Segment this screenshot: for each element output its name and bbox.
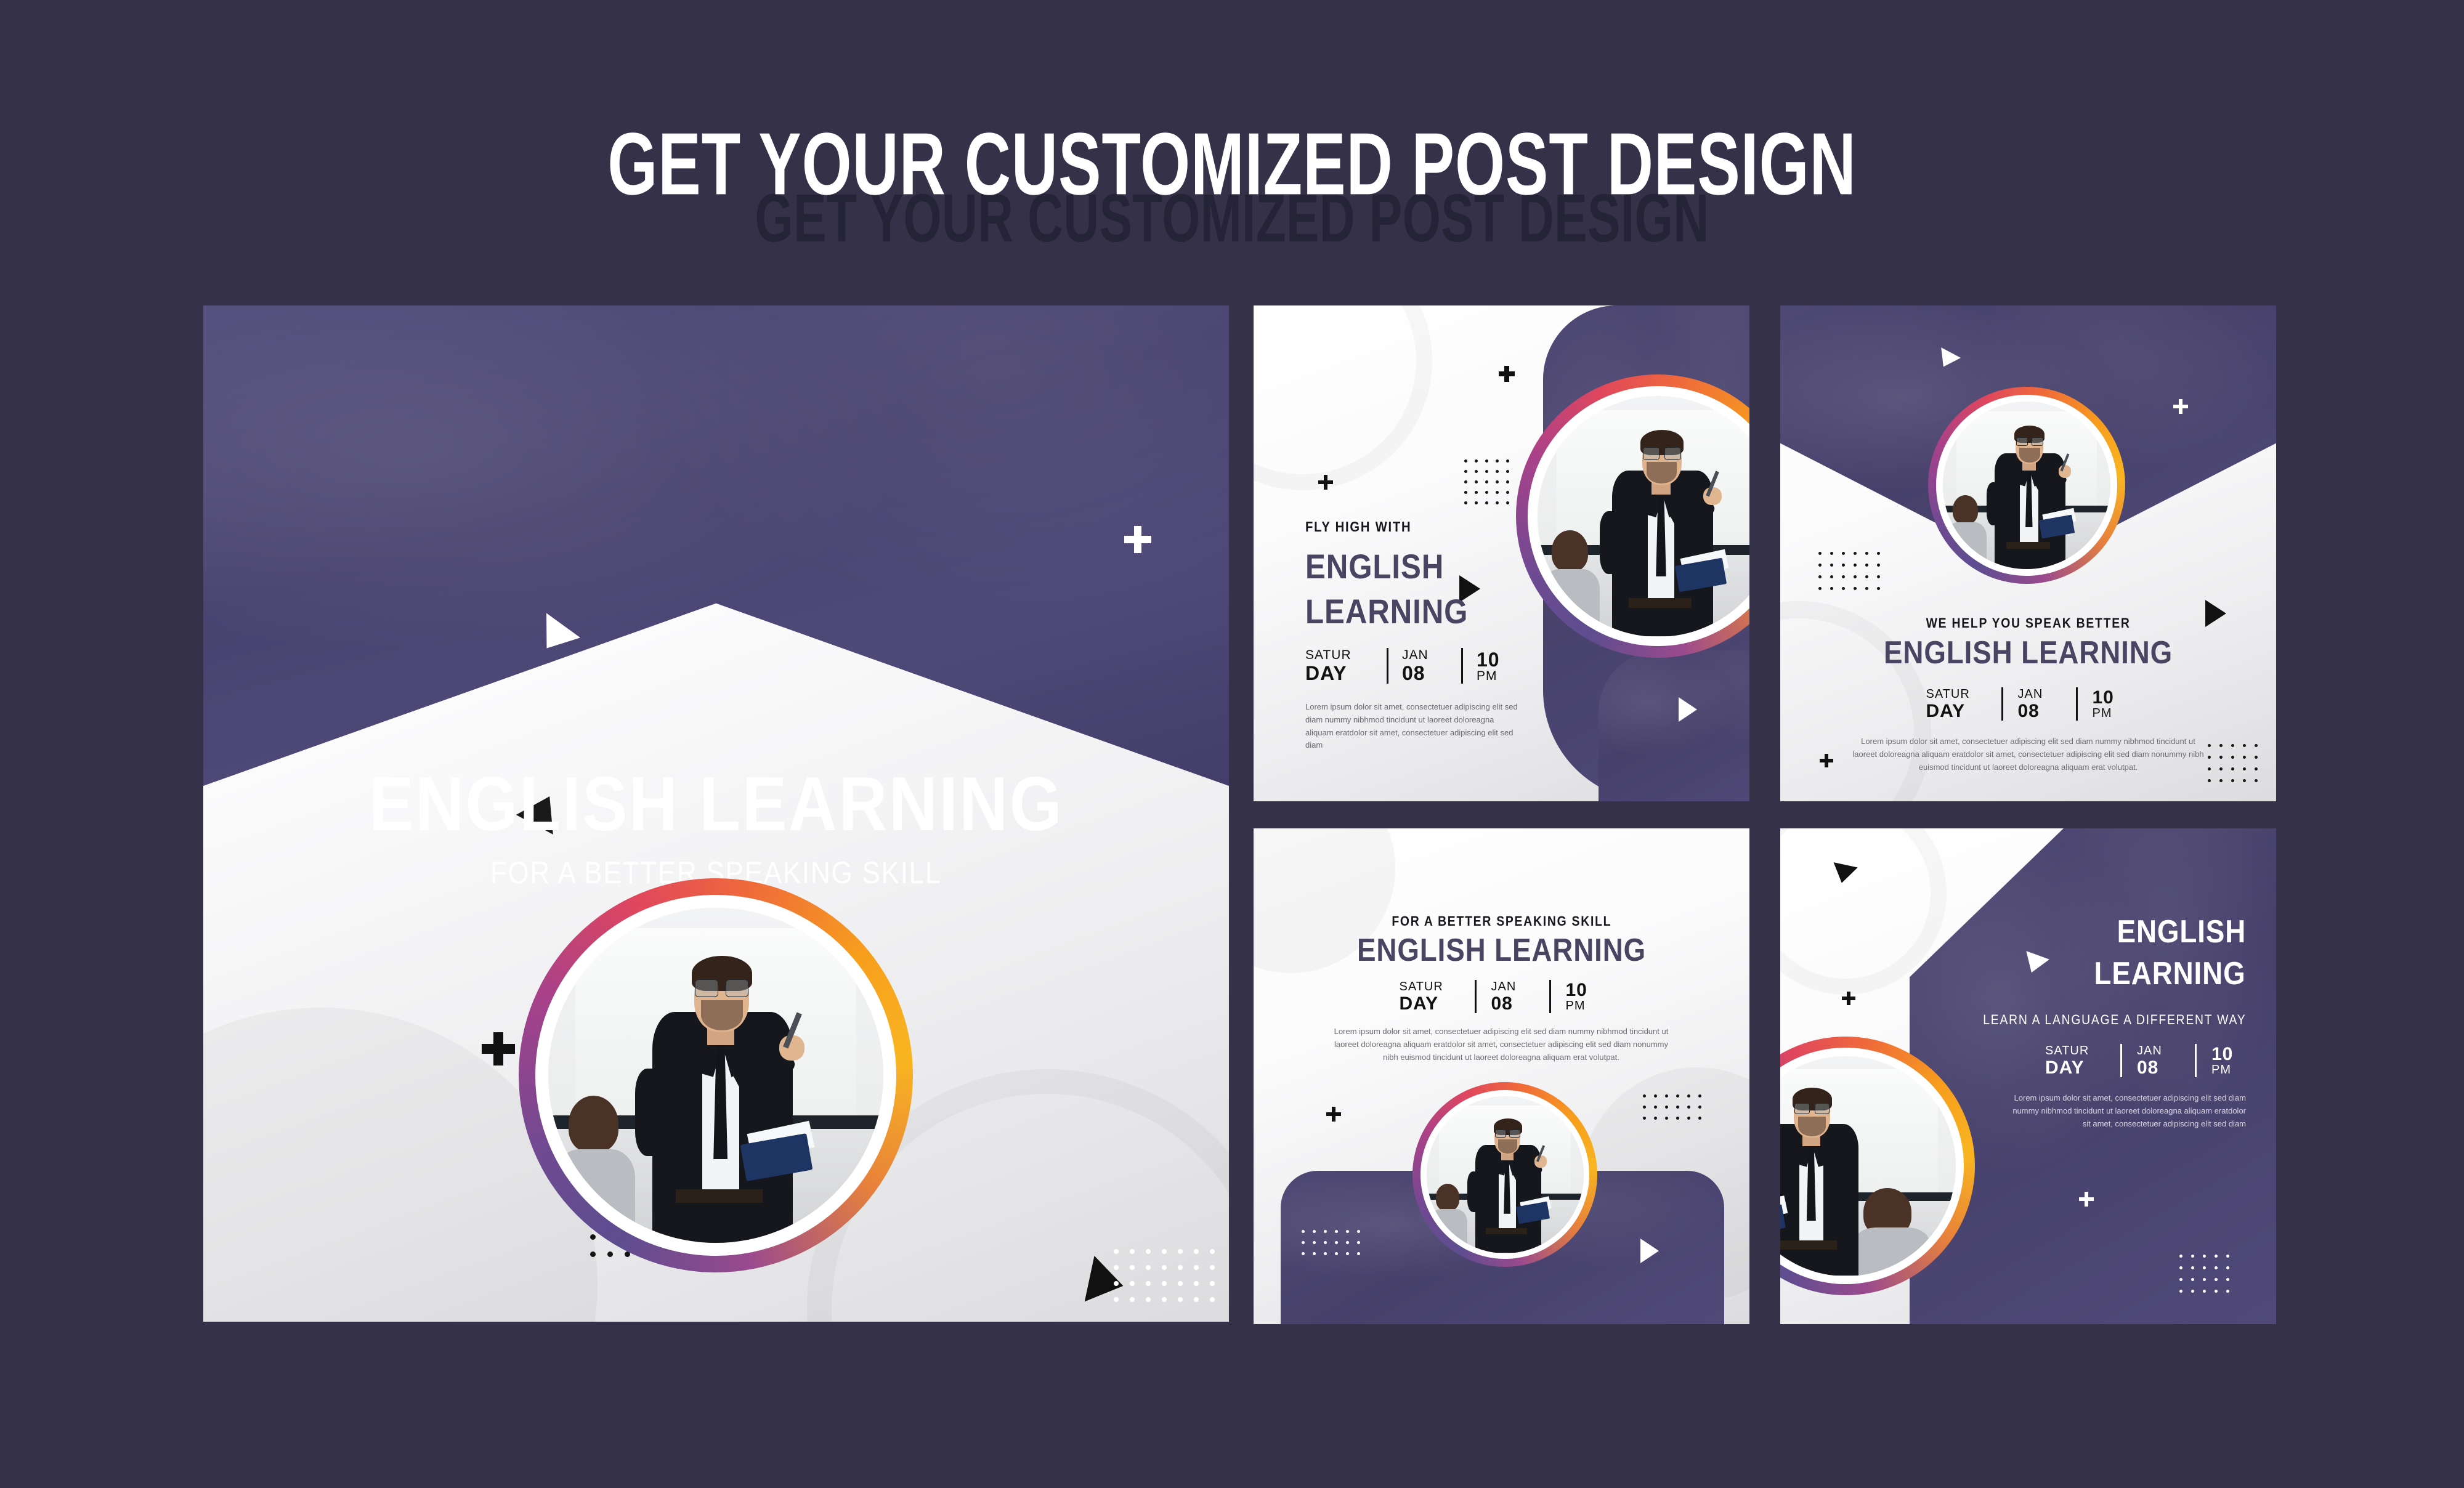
dot-grid-bottom-right bbox=[2179, 1255, 2238, 1301]
date-month-top: JAN bbox=[1402, 649, 1429, 661]
date-day-top: SATUR bbox=[1305, 649, 1352, 661]
plus-icon-left bbox=[1842, 992, 1855, 1005]
photo-circle-4 bbox=[1412, 1082, 1597, 1267]
poster-main-title: ENGLISH LEARNING bbox=[203, 766, 1229, 843]
poster-2-title-line1: ENGLISH bbox=[1305, 549, 1463, 584]
date-time-top: 10 bbox=[2093, 689, 2114, 707]
plus-icon-bottom-left bbox=[1820, 754, 1833, 767]
date-time-bottom: PM bbox=[1566, 1000, 1586, 1012]
photo-circle-2 bbox=[1516, 374, 1749, 658]
poster-2-kicker: FLY HIGH WITH bbox=[1305, 520, 1426, 534]
date-separator-2 bbox=[1461, 648, 1463, 684]
date-month-bottom: 08 bbox=[1491, 995, 1513, 1013]
plus-icon-left bbox=[482, 1032, 515, 1065]
date-month-top: JAN bbox=[2018, 688, 2043, 700]
plus-icon-top bbox=[1499, 366, 1515, 382]
date-row-2: SATUR DAY JAN 08 10 PM bbox=[1305, 648, 1517, 684]
triangle-icon-white bbox=[1640, 1239, 1659, 1263]
presenter-photo bbox=[1943, 402, 2110, 569]
date-separator-2 bbox=[1549, 980, 1551, 1013]
purple-blob-shape-lower bbox=[1599, 650, 1749, 801]
date-time-bottom: PM bbox=[2093, 707, 2112, 719]
plus-icon-left bbox=[1326, 1107, 1341, 1122]
poster-3-body-text: Lorem ipsum dolor sit amet, consectetuer… bbox=[1848, 735, 2208, 774]
poster-2-body-text: Lorem ipsum dolor sit amet, consectetuer… bbox=[1305, 701, 1518, 752]
dot-grid-bottom-left bbox=[1302, 1230, 1368, 1263]
date-separator-2 bbox=[2195, 1044, 2197, 1077]
page-title: GET YOUR CUSTOMIZED POST DESIGN bbox=[86, 120, 2378, 208]
date-month-bottom: 08 bbox=[1402, 663, 1425, 683]
plus-icon-left bbox=[1318, 475, 1333, 490]
poster-5-title-line2: LEARNING bbox=[1780, 958, 2246, 990]
poster-3-kicker: WE HELP YOU SPEAK BETTER bbox=[1780, 617, 2276, 630]
presenter-photo bbox=[548, 908, 883, 1243]
poster-5-title-line1: ENGLISH bbox=[1780, 916, 2246, 948]
date-separator-1 bbox=[2120, 1044, 2122, 1077]
date-day-top: SATUR bbox=[1400, 981, 1443, 993]
photo-circle-main bbox=[519, 878, 913, 1272]
date-time-top: 10 bbox=[2211, 1045, 2233, 1064]
date-separator-2 bbox=[2076, 687, 2078, 721]
presenter-photo bbox=[1427, 1096, 1584, 1253]
date-time-top: 10 bbox=[1477, 650, 1500, 669]
poster-5[interactable]: ENGLISH LEARNING LEARN A LANGUAGE A DIFF… bbox=[1780, 828, 2276, 1324]
page-header: GET YOUR CUSTOMIZED POST DESIGN GET YOUR… bbox=[0, 0, 2464, 265]
dot-grid-bottom-right bbox=[1114, 1249, 1226, 1313]
date-separator-1 bbox=[2001, 687, 2003, 721]
poster-3-title: ENGLISH LEARNING bbox=[1780, 637, 2276, 669]
poster-3[interactable]: WE HELP YOU SPEAK BETTER ENGLISH LEARNIN… bbox=[1780, 305, 2276, 801]
plus-icon-top-right bbox=[1124, 526, 1151, 553]
date-day-bottom: DAY bbox=[1400, 995, 1439, 1013]
poster-main[interactable]: ENGLISH LEARNING FOR A BETTER SPEAKING S… bbox=[203, 305, 1229, 1322]
date-month-top: JAN bbox=[2137, 1045, 2162, 1057]
poster-2[interactable]: FLY HIGH WITH ENGLISH LEARNING SATUR DAY… bbox=[1254, 305, 1749, 801]
date-day-top: SATUR bbox=[1926, 688, 1970, 700]
date-row-4: SATUR DAY JAN 08 10 PM bbox=[1254, 980, 1749, 1013]
date-day-bottom: DAY bbox=[2045, 1059, 2085, 1077]
date-time-bottom: PM bbox=[1477, 669, 1497, 682]
date-month-top: JAN bbox=[1491, 981, 1517, 993]
plus-icon-mid bbox=[2079, 1192, 2094, 1207]
photo-circle-5 bbox=[1780, 1037, 1975, 1295]
presenter-photo bbox=[1780, 1056, 1956, 1276]
poster-4-body-text: Lorem ipsum dolor sit amet, consectetuer… bbox=[1326, 1025, 1676, 1064]
date-separator-1 bbox=[1475, 980, 1477, 1013]
dot-grid-bottom-right bbox=[2208, 744, 2266, 791]
plus-icon-top-right bbox=[2173, 399, 2188, 414]
poster-4-title: ENGLISH LEARNING bbox=[1254, 934, 1749, 967]
dot-grid-left bbox=[1818, 552, 1889, 599]
date-time-bottom: PM bbox=[2211, 1064, 2231, 1076]
date-day-top: SATUR bbox=[2045, 1045, 2089, 1057]
poster-4-kicker: FOR A BETTER SPEAKING SKILL bbox=[1254, 915, 1749, 928]
dot-grid-right bbox=[1643, 1094, 1709, 1128]
poster-5-body-text: Lorem ipsum dolor sit amet, consectetuer… bbox=[2007, 1092, 2246, 1130]
poster-4[interactable]: FOR A BETTER SPEAKING SKILL ENGLISH LEAR… bbox=[1254, 828, 1749, 1324]
poster-5-subtitle: LEARN A LANGUAGE A DIFFERENT WAY bbox=[1780, 1013, 2246, 1027]
date-row-3: SATUR DAY JAN 08 10 PM bbox=[1780, 687, 2276, 721]
date-time-top: 10 bbox=[1566, 981, 1587, 1000]
date-month-bottom: 08 bbox=[2137, 1059, 2158, 1077]
dot-grid-center bbox=[1464, 459, 1517, 512]
date-day-bottom: DAY bbox=[1305, 663, 1347, 683]
date-separator-1 bbox=[1387, 648, 1388, 684]
poster-2-title-line2: LEARNING bbox=[1305, 594, 1490, 629]
date-day-bottom: DAY bbox=[1926, 702, 1966, 721]
date-month-bottom: 08 bbox=[2018, 702, 2040, 721]
photo-circle-3 bbox=[1928, 387, 2125, 584]
triangle-icon-white bbox=[1679, 697, 1697, 722]
presenter-photo bbox=[1538, 396, 1750, 637]
